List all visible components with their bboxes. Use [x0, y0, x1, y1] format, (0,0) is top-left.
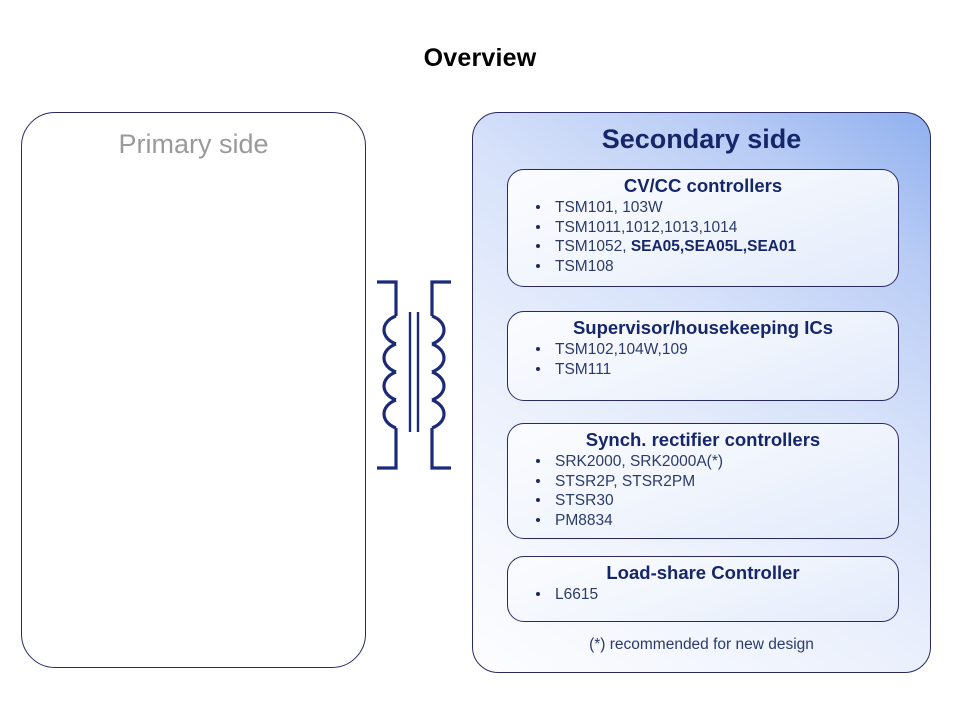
- list-item: STSR2P, STSR2PM: [508, 472, 898, 492]
- page-title: Overview: [0, 44, 960, 73]
- list-item: TSM101, 103W: [508, 198, 898, 218]
- list-item: TSM102,104W,109: [508, 340, 898, 360]
- group-card-supervisor-housekeeping-ics: Supervisor/housekeeping ICs TSM102,104W,…: [507, 311, 899, 401]
- bullet-icon: [536, 225, 540, 229]
- group-title: CV/CC controllers: [508, 170, 898, 196]
- bullet-icon: [536, 518, 540, 522]
- list-item: TSM108: [508, 257, 898, 277]
- secondary-side-panel: Secondary side CV/CC controllers TSM101,…: [472, 112, 931, 673]
- group-card-cv-cc-controllers: CV/CC controllers TSM101, 103WTSM1011,10…: [507, 169, 899, 287]
- list-item: TSM1011,1012,1013,1014: [508, 218, 898, 238]
- list-item: PM8834: [508, 511, 898, 531]
- bullet-icon: [536, 459, 540, 463]
- bullet-icon: [536, 367, 540, 371]
- bullet-icon: [536, 347, 540, 351]
- bullet-icon: [536, 264, 540, 268]
- list-item: TSM1052, SEA05,SEA05L,SEA01: [508, 237, 898, 257]
- bullet-icon: [536, 244, 540, 248]
- group-card-synch-rectifier-controllers: Synch. rectifier controllers SRK2000, SR…: [507, 423, 899, 539]
- group-title: Synch. rectifier controllers: [508, 424, 898, 450]
- list-item: SRK2000, SRK2000A(*): [508, 452, 898, 472]
- primary-side-label: Primary side: [22, 129, 365, 160]
- list-item: STSR30: [508, 491, 898, 511]
- primary-side-panel: Primary side: [21, 112, 366, 668]
- group-title: Supervisor/housekeeping ICs: [508, 312, 898, 338]
- bullet-icon: [536, 205, 540, 209]
- group-title: Load-share Controller: [508, 557, 898, 583]
- list-item: TSM111: [508, 360, 898, 380]
- bullet-icon: [536, 498, 540, 502]
- group-item-list: TSM102,104W,109TSM111: [508, 340, 898, 386]
- group-item-list: SRK2000, SRK2000A(*)STSR2P, STSR2PMSTSR3…: [508, 452, 898, 537]
- bullet-icon: [536, 592, 540, 596]
- group-card-load-share-controller: Load-share Controller L6615: [507, 556, 899, 622]
- secondary-side-label: Secondary side: [473, 124, 930, 155]
- footnote: (*) recommended for new design: [473, 636, 930, 654]
- list-item-emphasis: SEA05,SEA05L,SEA01: [631, 238, 796, 255]
- group-item-list: L6615: [508, 585, 898, 612]
- transformer-icon: [372, 272, 456, 488]
- bullet-icon: [536, 479, 540, 483]
- list-item: L6615: [508, 585, 898, 605]
- group-item-list: TSM101, 103WTSM1011,1012,1013,1014TSM105…: [508, 198, 898, 283]
- transformer-symbol: [372, 272, 456, 488]
